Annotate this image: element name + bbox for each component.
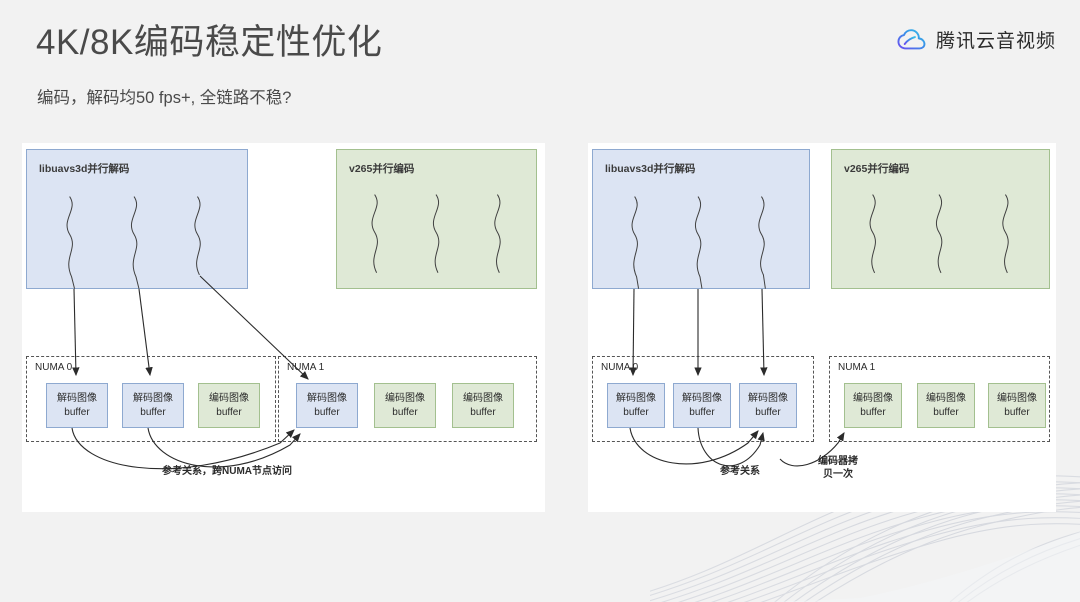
engine-label-encoder-right: v265并行编码 [844,161,909,176]
buffer-line1: 解码图像 [57,392,97,406]
buffer-line2: buffer [689,406,714,420]
numa-label-1-left: NUMA 1 [286,362,325,373]
buffer-decode-2-left: 解码图像 buffer [296,383,358,428]
engine-box-decoder-left: libuavs3d并行解码 [26,149,248,289]
buffer-line2: buffer [64,406,89,420]
page-subtitle: 编码，解码均50 fps+, 全链路不稳? [37,84,291,108]
numa-label-0-left: NUMA 0 [34,362,73,373]
slide-root: 4K/8K编码稳定性优化 编码，解码均50 fps+, 全链路不稳? 腾讯云音视… [0,0,1080,602]
caption-copy-once-line2-right: 贝一次 [778,468,898,481]
buffer-encode-2-right: 编码图像 buffer [988,383,1046,428]
buffer-decode-0-right: 解码图像 buffer [607,383,665,428]
engine-label-decoder-left: libuavs3d并行解码 [39,161,129,176]
buffer-line2: buffer [860,406,885,420]
numa-label-1-right: NUMA 1 [837,362,876,373]
numa-zone-1-left: NUMA 1 解码图像 buffer 编码图像 buffer 编码图像 buff… [278,356,537,442]
buffer-line1: 编码图像 [385,392,425,406]
buffer-encode-0-left: 编码图像 buffer [198,383,260,428]
buffer-decode-2-right: 解码图像 buffer [739,383,797,428]
numa-zone-0-right: NUMA 0 解码图像 buffer 解码图像 buffer 解码图像 buff… [592,356,814,442]
buffer-line1: 解码图像 [307,392,347,406]
buffer-line1: 编码图像 [853,392,893,406]
buffer-line1: 编码图像 [997,392,1037,406]
buffer-decode-1-right: 解码图像 buffer [673,383,731,428]
engine-label-encoder-left: v265并行编码 [349,161,414,176]
buffer-line1: 解码图像 [616,392,656,406]
buffer-decode-0-left: 解码图像 buffer [46,383,108,428]
buffer-line2: buffer [623,406,648,420]
buffer-encode-0-right: 编码图像 buffer [844,383,902,428]
caption-ref-cross-numa-left: 参考关系，跨NUMA节点访问 [22,465,432,478]
buffer-line2: buffer [1004,406,1029,420]
buffer-decode-1-left: 解码图像 buffer [122,383,184,428]
buffer-line2: buffer [392,406,417,420]
buffer-line2: buffer [470,406,495,420]
buffer-encode-1-right: 编码图像 buffer [917,383,975,428]
buffer-line2: buffer [755,406,780,420]
page-title: 4K/8K编码稳定性优化 [36,14,382,65]
engine-box-encoder-left: v265并行编码 [336,149,537,289]
buffer-encode-1-left: 编码图像 buffer [374,383,436,428]
brand-name-label: 腾讯云音视频 [936,26,1056,53]
buffer-line1: 编码图像 [463,392,503,406]
buffer-line1: 解码图像 [748,392,788,406]
numa-label-0-right: NUMA 0 [600,362,639,373]
buffer-line2: buffer [140,406,165,420]
numa-zone-1-right: NUMA 1 编码图像 buffer 编码图像 buffer 编码图像 buff… [829,356,1050,442]
buffer-line2: buffer [216,406,241,420]
buffer-line1: 编码图像 [209,392,249,406]
brand-logo: 腾讯云音视频 [897,26,1056,53]
buffer-line2: buffer [314,406,339,420]
buffer-line1: 解码图像 [682,392,722,406]
buffer-encode-2-left: 编码图像 buffer [452,383,514,428]
engine-box-encoder-right: v265并行编码 [831,149,1050,289]
tencent-cloud-logo-icon [897,29,927,51]
buffer-line1: 解码图像 [133,392,173,406]
buffer-line2: buffer [933,406,958,420]
buffer-line1: 编码图像 [926,392,966,406]
engine-box-decoder-right: libuavs3d并行解码 [592,149,810,289]
caption-copy-once-line1-right: 编码器拷 [778,455,898,468]
engine-label-decoder-right: libuavs3d并行解码 [605,161,695,176]
diagram-panel-right: libuavs3d并行解码 v265并行编码 [588,143,1056,512]
numa-zone-0-left: NUMA 0 解码图像 buffer 解码图像 buffer 编码图像 buff… [26,356,276,442]
diagram-panel-left: libuavs3d并行解码 v265并行编码 [22,143,545,512]
